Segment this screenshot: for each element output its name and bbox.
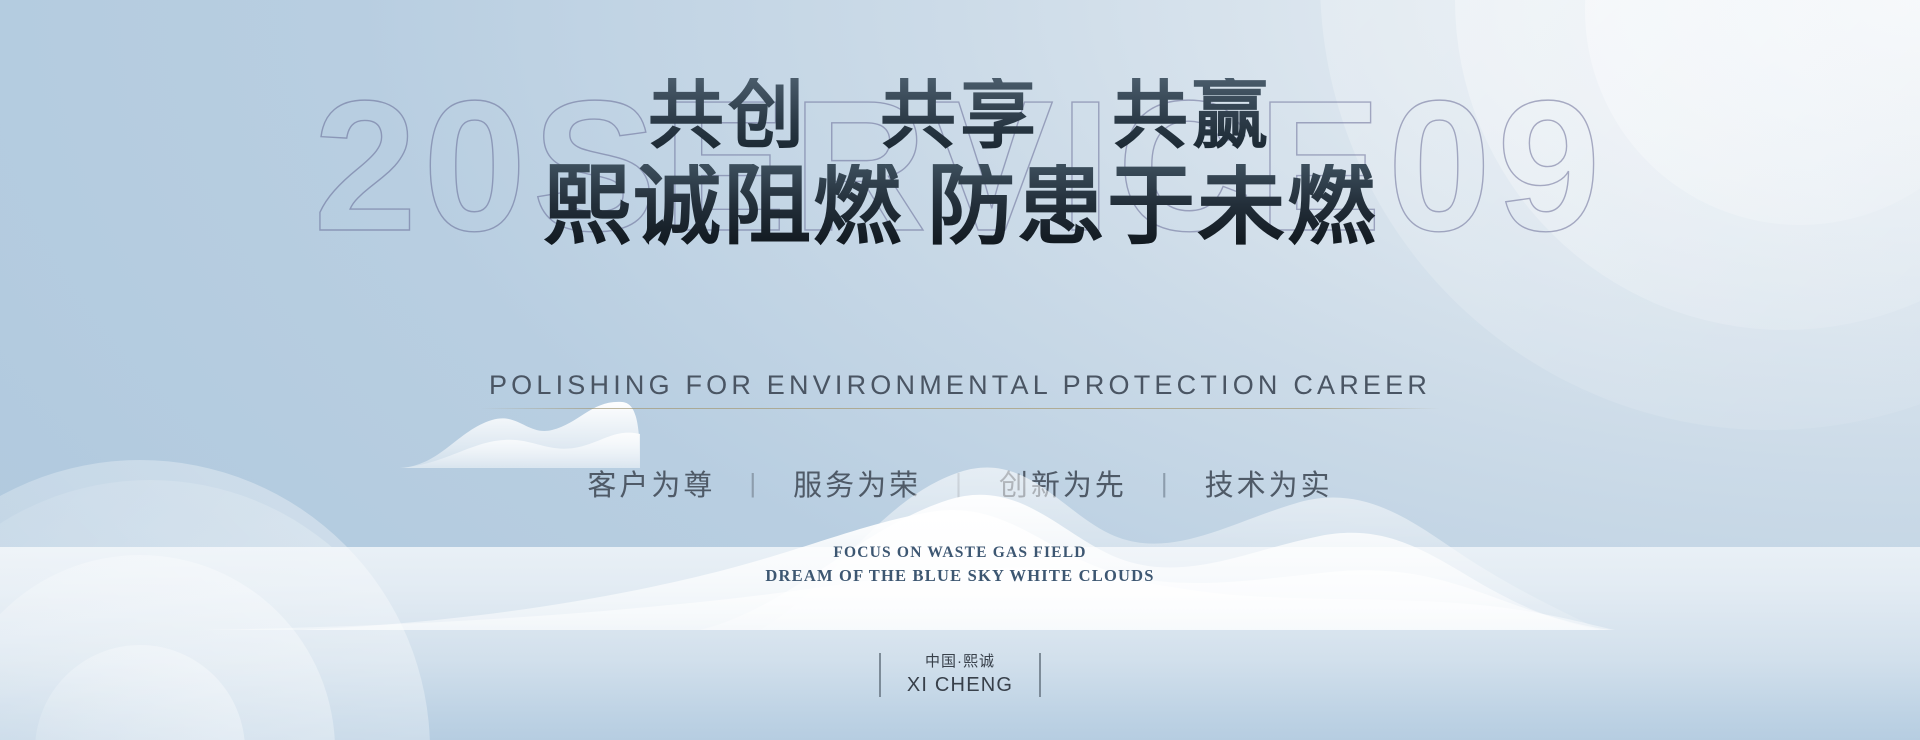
headline-word-1: 共创	[648, 74, 808, 158]
logo-text-cn: 中国·熙诚	[907, 652, 1013, 672]
value-item-1: 客户为尊	[587, 462, 715, 504]
headline-word-3: 共赢	[1112, 74, 1272, 158]
subtitle-line-2: DREAM OF THE BLUE SKY WHITE CLOUDS	[0, 564, 1920, 588]
headline-word-2: 共享	[880, 74, 1040, 158]
value-separator-1: |	[749, 468, 759, 499]
promo-banner: 20SERVICE09 共创 共享 共赢 熙诚阻燃 防患于未燃 POLISHIN…	[0, 0, 1920, 740]
value-item-4: 技术为实	[1205, 462, 1333, 504]
footer-logo: 中国·熙诚 XI CHENG	[0, 652, 1920, 698]
logo-text: 中国·熙诚 XI CHENG	[907, 652, 1013, 698]
subtitle-block: FOCUS ON WASTE GAS FIELD DREAM OF THE BL…	[0, 542, 1920, 588]
english-tagline: POLISHING FOR ENVIRONMENTAL PROTECTION C…	[0, 370, 1920, 401]
logo-text-en: XI CHENG	[907, 672, 1013, 698]
headline-block: 共创 共享 共赢 熙诚阻燃 防患于未燃	[0, 78, 1920, 252]
value-item-3: 创新为先	[999, 462, 1127, 504]
headline-line-1: 共创 共享 共赢	[0, 78, 1920, 154]
left-cloud-shape	[400, 400, 640, 470]
value-item-2: 服务为荣	[793, 462, 921, 504]
tagline-underline	[480, 408, 1440, 409]
subtitle-line-1: FOCUS ON WASTE GAS FIELD	[0, 542, 1920, 564]
headline-line-2: 熙诚阻燃 防患于未燃	[0, 164, 1920, 252]
logo-divider-left	[879, 653, 881, 697]
logo-divider-right	[1039, 653, 1041, 697]
value-separator-3: |	[1161, 468, 1171, 499]
value-separator-2: |	[955, 468, 965, 499]
values-row: 客户为尊 | 服务为荣 | 创新为先 | 技术为实	[0, 462, 1920, 504]
